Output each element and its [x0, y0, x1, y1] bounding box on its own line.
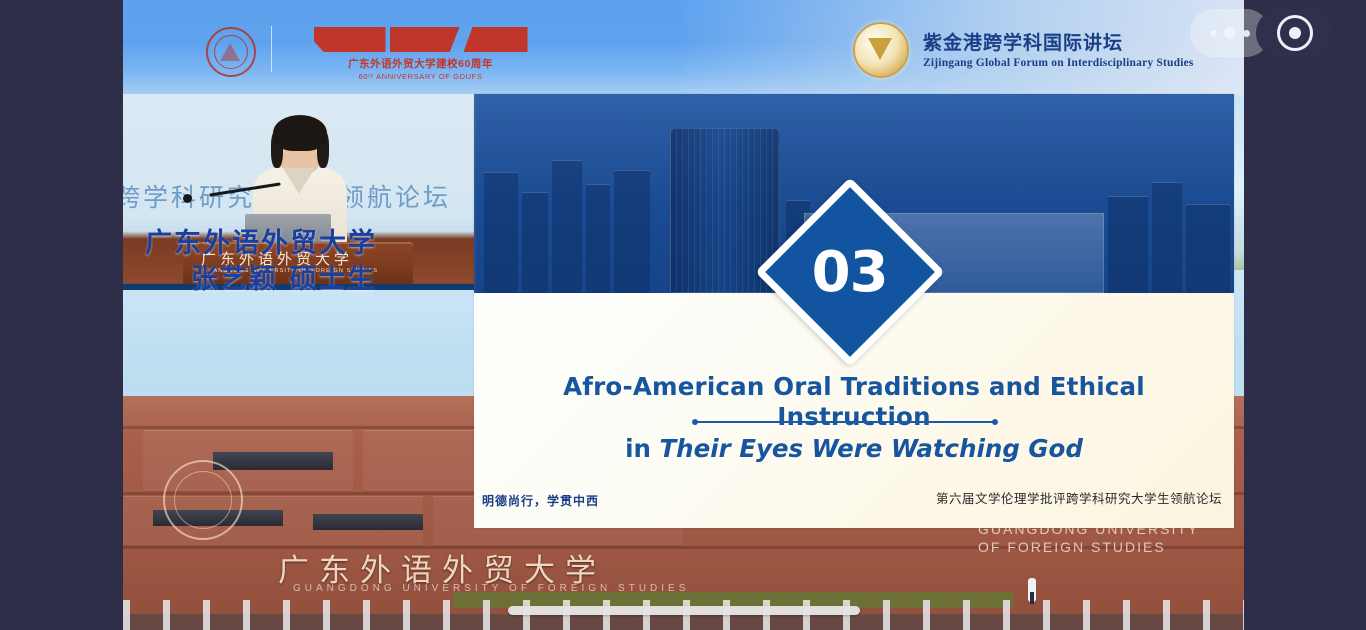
slide-title: Afro-American Oral Traditions and Ethica…	[514, 372, 1194, 464]
forum-title-cn: 紫金港跨学科国际讲坛	[923, 32, 1194, 54]
record-icon	[1277, 15, 1313, 51]
dot-icon	[1210, 30, 1217, 37]
header-banner: 广东外语外贸大学建校60周年 60ᵗʰ ANNIVERSARY OF GDUFS…	[123, 0, 1244, 95]
video-stage: 广东外语外贸大学 GUANGDONG UNIVERSITY OF FOREIGN…	[123, 0, 1244, 630]
presentation-slide[interactable]: 03 Afro-American Oral Traditions and Eth…	[474, 94, 1234, 528]
slide-motto: 明德尚行，学贯中西	[482, 492, 599, 509]
speaker-caption: 广东外语外贸大学 张艺颖 硕士生	[145, 226, 377, 298]
screen-recording-view: 广东外语外贸大学 GUANGDONG UNIVERSITY OF FOREIGN…	[0, 0, 1366, 630]
section-number-text: 03	[812, 240, 888, 305]
forum-title-en: Zijingang Global Forum on Interdisciplin…	[923, 57, 1194, 69]
title-underline-rule	[695, 421, 995, 423]
slide-title-book: Their Eyes Were Watching God	[659, 434, 1082, 463]
letterbox-bar-left	[0, 0, 123, 630]
anniversary-logo: 广东外语外贸大学建校60周年 60ᵗʰ ANNIVERSARY OF GDUFS	[283, 27, 558, 81]
slide-forum-name: 第六届文学伦理学批评跨学科研究大学生领航论坛	[936, 488, 1222, 507]
dot-icon	[1243, 30, 1250, 37]
anniversary-logotype-icon	[283, 27, 558, 53]
zijingang-seal-icon	[853, 22, 909, 78]
slide-title-prefix: in	[625, 434, 659, 463]
campus-pedestrian	[1028, 578, 1036, 602]
slide-title-line1: Afro-American Oral Traditions and Ethica…	[514, 372, 1194, 432]
slide-title-line2: in Their Eyes Were Watching God	[514, 434, 1194, 464]
record-button[interactable]	[1256, 9, 1334, 57]
anniversary-text-cn: 广东外语外贸大学建校60周年	[283, 56, 558, 71]
speaker-name: 张艺颖 硕士生	[145, 262, 377, 298]
dot-icon	[1224, 27, 1236, 39]
horizontal-scrollbar-thumb[interactable]	[508, 606, 860, 615]
gdufs-emblem-icon	[206, 27, 256, 77]
wall-emblem-icon	[163, 460, 243, 540]
speaker-affiliation: 广东外语外贸大学	[145, 226, 377, 262]
header-divider	[271, 26, 272, 72]
anniversary-text-en: 60ᵗʰ ANNIVERSARY OF GDUFS	[283, 72, 558, 81]
letterbox-bar-right	[1244, 0, 1366, 630]
microphone-head-icon	[183, 194, 192, 203]
forum-logo: 紫金港跨学科国际讲坛 Zijingang Global Forum on Int…	[853, 22, 1194, 78]
